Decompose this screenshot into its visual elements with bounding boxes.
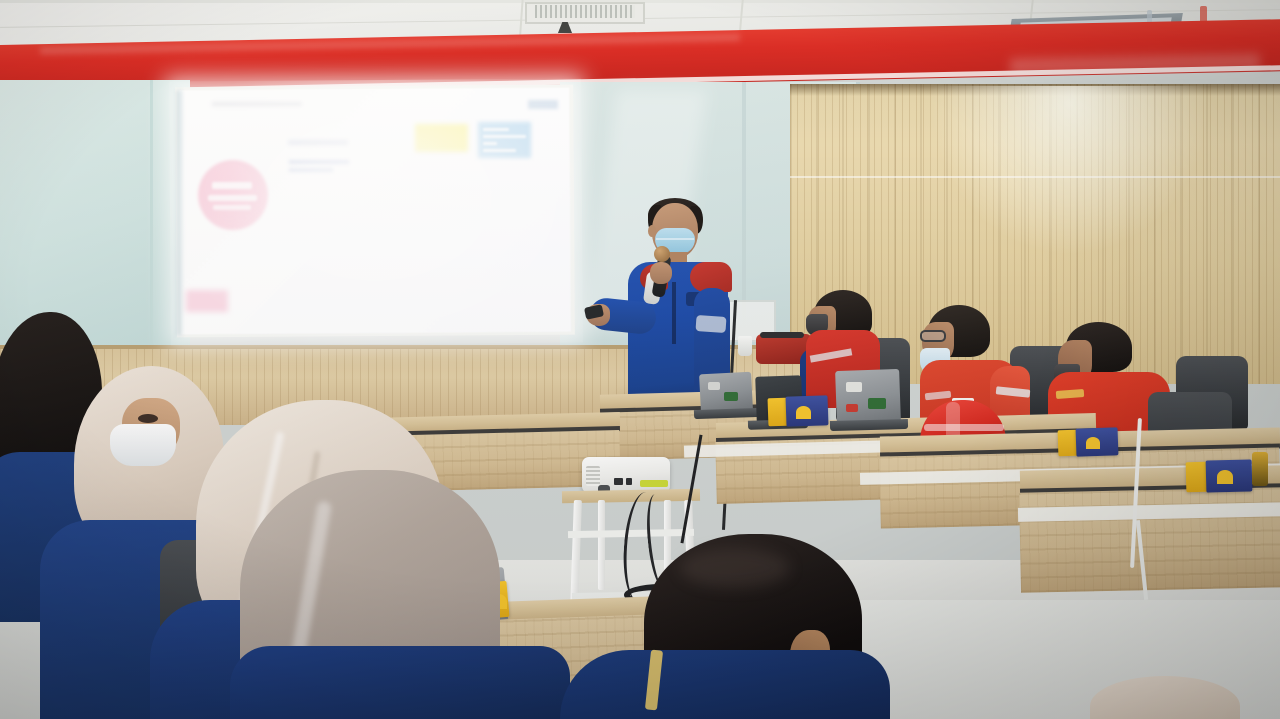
face-mask-pleat	[656, 238, 694, 240]
slide-blue-panel-text	[483, 142, 497, 145]
snack-box-logo-icon	[796, 406, 811, 419]
projection-screen-edge	[176, 90, 182, 336]
slide-heading-text	[288, 140, 348, 145]
participant-navy-uniform	[560, 650, 890, 719]
microphone-head	[654, 246, 670, 262]
slide-body-text	[289, 168, 333, 172]
red-bag-strap	[760, 332, 804, 338]
snack-box-logo-icon	[1217, 470, 1233, 484]
laptop-sticker	[846, 382, 862, 392]
coverall-zipper	[672, 282, 676, 344]
paper-cup	[738, 336, 752, 356]
slide-logo-text	[212, 182, 252, 189]
slide-logo-text	[213, 205, 251, 210]
wood-wall-light-glow	[930, 86, 1210, 256]
slide-pink-bar	[186, 290, 228, 312]
beverage-can[interactable]	[1252, 452, 1268, 486]
slide-body-text	[289, 160, 349, 164]
snack-box-logo-icon	[1086, 437, 1100, 449]
safety-helmet-stripe	[924, 424, 1004, 431]
laptop-sticker	[724, 392, 738, 401]
laptop-sticker	[868, 398, 886, 409]
slide-logo-text	[208, 195, 257, 201]
slide-blue-panel-text	[483, 135, 526, 138]
slide-yellow-block	[415, 124, 468, 152]
slide-header-text	[212, 102, 302, 106]
laptop[interactable]	[835, 369, 901, 423]
projector-label	[640, 480, 668, 487]
laptop-keyboard-base[interactable]	[830, 419, 908, 431]
laptop-sticker	[708, 382, 720, 390]
participant-face-mask	[110, 424, 176, 466]
eyeglasses-icon	[920, 330, 946, 342]
projector-vent	[586, 466, 600, 486]
wood-wall-trim-line	[790, 176, 1280, 178]
training-room-photo: Training room presentation Corporate tra…	[0, 0, 1280, 719]
slide-blue-panel-text	[483, 149, 516, 152]
slide-blue-panel-text	[483, 128, 509, 131]
laptop-sticker	[846, 404, 858, 412]
participant-navy-uniform	[230, 646, 570, 719]
projector-port	[626, 478, 632, 485]
projector-port	[614, 478, 623, 485]
coverall-reflective-stripe	[695, 315, 726, 333]
ceiling-vent-louvers	[535, 5, 635, 18]
projector-stand-leg	[598, 500, 605, 590]
projector-table-top	[562, 489, 700, 503]
participant-eye	[138, 414, 158, 423]
participant-hair-highlight	[680, 548, 790, 588]
presenter-hand	[650, 262, 672, 284]
slide-corner-mark	[528, 100, 558, 109]
